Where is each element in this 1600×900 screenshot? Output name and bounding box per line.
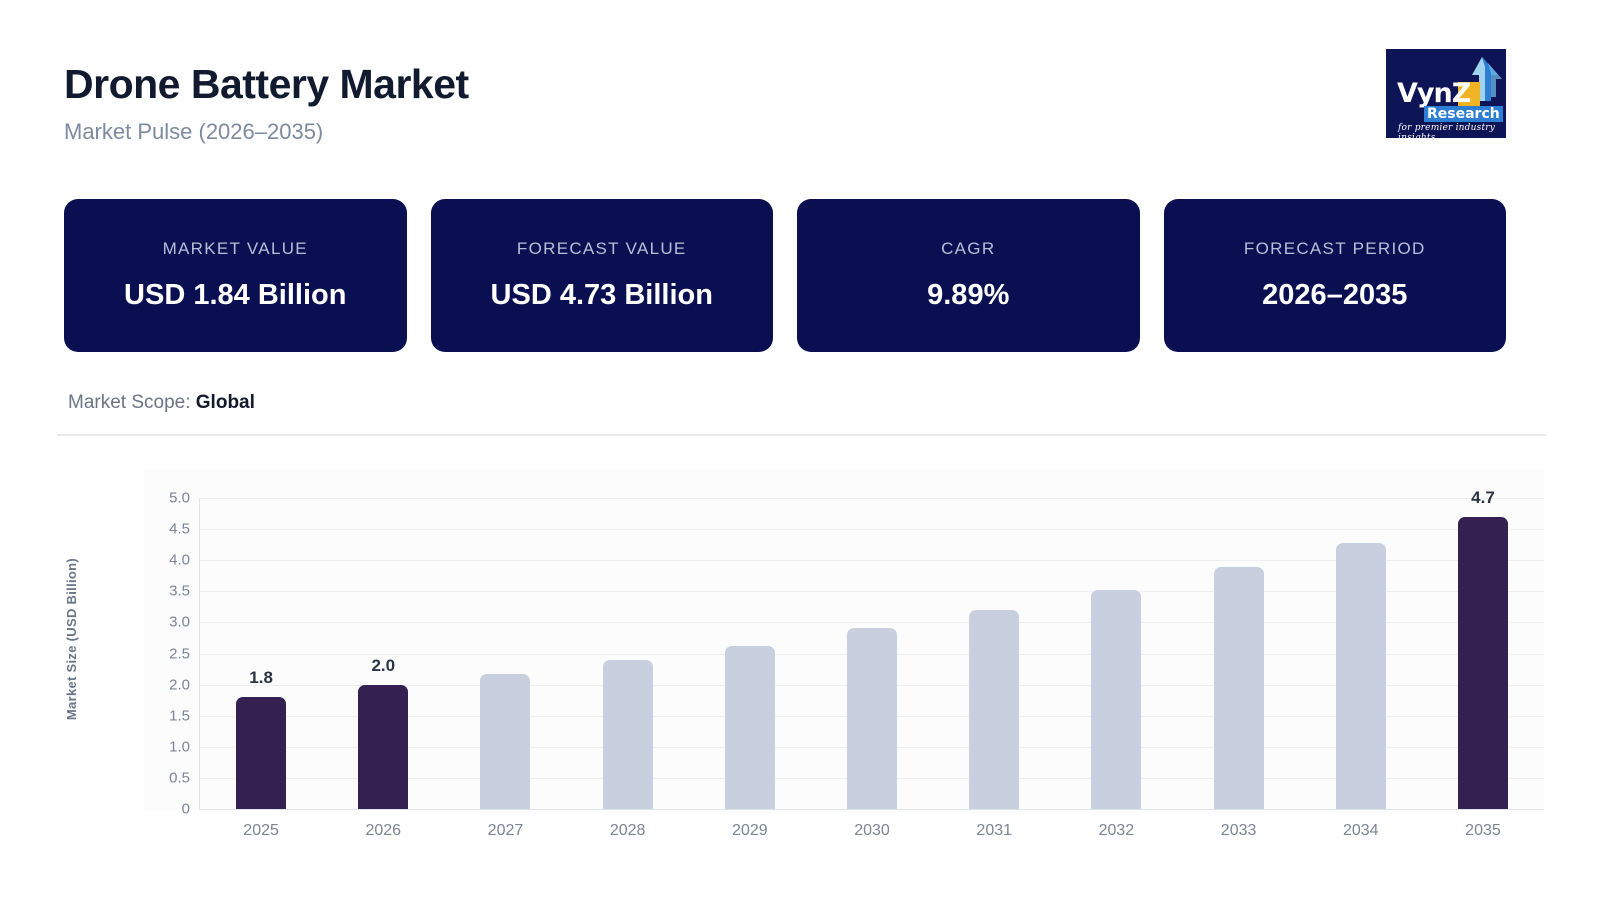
y-axis-tick-label: 3.0 bbox=[144, 614, 190, 631]
x-axis-tick-label: 2026 bbox=[322, 822, 444, 840]
x-axis-tick-label: 2025 bbox=[200, 822, 322, 840]
y-axis-tick-label: 3.5 bbox=[144, 583, 190, 600]
logo-wordmark: VynZ bbox=[1397, 78, 1470, 109]
chart-bar[interactable]: 2.0 bbox=[358, 685, 408, 809]
bar-slot bbox=[1178, 498, 1300, 809]
kpi-card-market-value[interactable]: MARKET VALUE USD 1.84 Billion bbox=[64, 199, 407, 352]
page-title: Drone Battery Market bbox=[64, 62, 469, 107]
kpi-card-forecast-period[interactable]: FORECAST PERIOD 2026–2035 bbox=[1164, 199, 1507, 352]
x-axis-labels: 2025202620272028202920302031203220332034… bbox=[200, 822, 1544, 840]
bar-value-label: 4.7 bbox=[1471, 488, 1495, 508]
bar-value-label: 2.0 bbox=[371, 656, 395, 676]
kpi-card-cagr[interactable]: CAGR 9.89% bbox=[797, 199, 1140, 352]
section-divider bbox=[57, 434, 1546, 436]
y-axis-tick-label: 0 bbox=[144, 801, 190, 818]
bar-slot bbox=[933, 498, 1055, 809]
y-axis-tick-label: 5.0 bbox=[144, 490, 190, 507]
x-axis-tick-label: 2033 bbox=[1178, 822, 1300, 840]
market-scope: Market Scope: Global bbox=[68, 392, 255, 414]
logo-tagline: for premier industry insights bbox=[1398, 123, 1506, 138]
market-scope-label: Market Scope: bbox=[68, 392, 191, 413]
logo-subtitle: Research bbox=[1424, 106, 1503, 122]
kpi-value: USD 4.73 Billion bbox=[491, 279, 713, 312]
market-size-bar-chart: Market Size (USD Billion) 00.51.01.52.02… bbox=[64, 462, 1544, 862]
chart-plot-area: 00.51.01.52.02.53.03.54.04.55.0 1.82.04.… bbox=[144, 470, 1544, 810]
y-axis-tick-label: 2.0 bbox=[144, 676, 190, 693]
y-axis-tick-label: 2.5 bbox=[144, 645, 190, 662]
bar-slot bbox=[689, 498, 811, 809]
kpi-card-row: MARKET VALUE USD 1.84 Billion FORECAST V… bbox=[64, 199, 1506, 352]
chart-bars: 1.82.04.7 bbox=[200, 498, 1544, 809]
x-axis-tick-label: 2034 bbox=[1300, 822, 1422, 840]
bar-slot bbox=[444, 498, 566, 809]
x-axis-tick-label: 2029 bbox=[689, 822, 811, 840]
kpi-value: USD 1.84 Billion bbox=[124, 279, 346, 312]
kpi-value: 9.89% bbox=[927, 279, 1009, 312]
kpi-label: FORECAST VALUE bbox=[517, 239, 687, 259]
chart-bar[interactable] bbox=[725, 646, 775, 809]
chart-bar[interactable]: 4.7 bbox=[1458, 517, 1508, 809]
kpi-card-forecast-value[interactable]: FORECAST VALUE USD 4.73 Billion bbox=[431, 199, 774, 352]
bar-value-label: 1.8 bbox=[249, 668, 273, 688]
x-axis-tick-label: 2028 bbox=[567, 822, 689, 840]
chart-bar[interactable]: 1.8 bbox=[236, 697, 286, 809]
y-axis-tick-label: 1.5 bbox=[144, 707, 190, 724]
x-axis-tick-label: 2027 bbox=[444, 822, 566, 840]
x-axis-line bbox=[199, 809, 1544, 810]
kpi-label: MARKET VALUE bbox=[163, 239, 308, 259]
x-axis-tick-label: 2031 bbox=[933, 822, 1055, 840]
kpi-label: CAGR bbox=[941, 239, 995, 259]
page-header: Drone Battery Market Market Pulse (2026–… bbox=[64, 62, 469, 145]
y-axis-tick-label: 1.0 bbox=[144, 738, 190, 755]
y-axis-tick-label: 4.0 bbox=[144, 552, 190, 569]
vynz-research-logo[interactable]: VynZ Research for premier industry insig… bbox=[1386, 49, 1506, 138]
market-report-page: Drone Battery Market Market Pulse (2026–… bbox=[0, 0, 1600, 900]
bar-slot: 1.8 bbox=[200, 498, 322, 809]
market-scope-value: Global bbox=[196, 392, 255, 413]
x-axis-tick-label: 2032 bbox=[1055, 822, 1177, 840]
chart-bar[interactable] bbox=[969, 610, 1019, 809]
y-axis-tick-label: 4.5 bbox=[144, 521, 190, 538]
chart-bar[interactable] bbox=[847, 628, 897, 809]
kpi-label: FORECAST PERIOD bbox=[1244, 239, 1426, 259]
page-subtitle: Market Pulse (2026–2035) bbox=[64, 119, 469, 145]
bar-slot bbox=[1055, 498, 1177, 809]
chart-bar[interactable] bbox=[480, 674, 530, 809]
x-axis-tick-label: 2035 bbox=[1422, 822, 1544, 840]
y-axis-title: Market Size (USD Billion) bbox=[64, 558, 79, 720]
bar-slot bbox=[811, 498, 933, 809]
bar-slot bbox=[1300, 498, 1422, 809]
bar-slot bbox=[567, 498, 689, 809]
chart-bar[interactable] bbox=[1091, 590, 1141, 809]
chart-bar[interactable] bbox=[603, 660, 653, 809]
y-axis-tick-label: 0.5 bbox=[144, 769, 190, 786]
chart-bar[interactable] bbox=[1336, 543, 1386, 809]
bar-slot: 4.7 bbox=[1422, 498, 1544, 809]
bar-slot: 2.0 bbox=[322, 498, 444, 809]
x-axis-tick-label: 2030 bbox=[811, 822, 933, 840]
kpi-value: 2026–2035 bbox=[1262, 279, 1407, 312]
chart-bar[interactable] bbox=[1214, 567, 1264, 809]
